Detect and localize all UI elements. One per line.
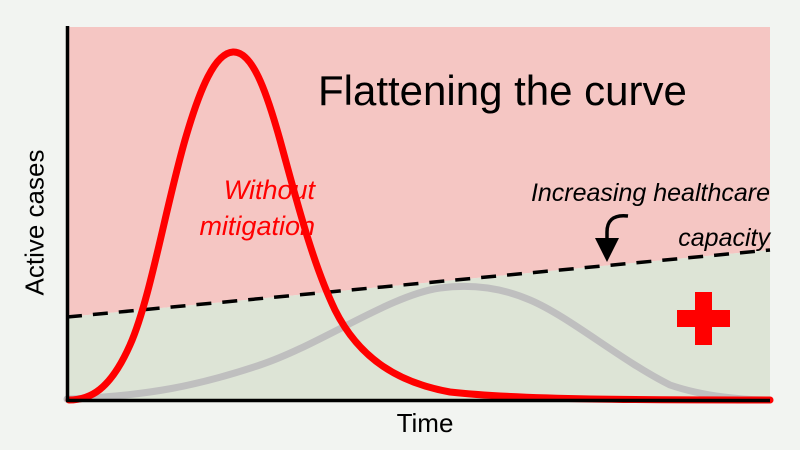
annotation-increasing-healthcare-capacity: Increasing healthcare capacity: [455, 171, 770, 261]
x-axis-label: Time: [310, 408, 540, 439]
flattening-the-curve-figure: Flattening the curve Active cases Time W…: [0, 0, 800, 450]
annotation-without-mitigation: Without mitigation: [170, 172, 315, 244]
y-axis-label: Active cases: [20, 143, 51, 303]
chart-title: Flattening the curve: [318, 66, 687, 116]
